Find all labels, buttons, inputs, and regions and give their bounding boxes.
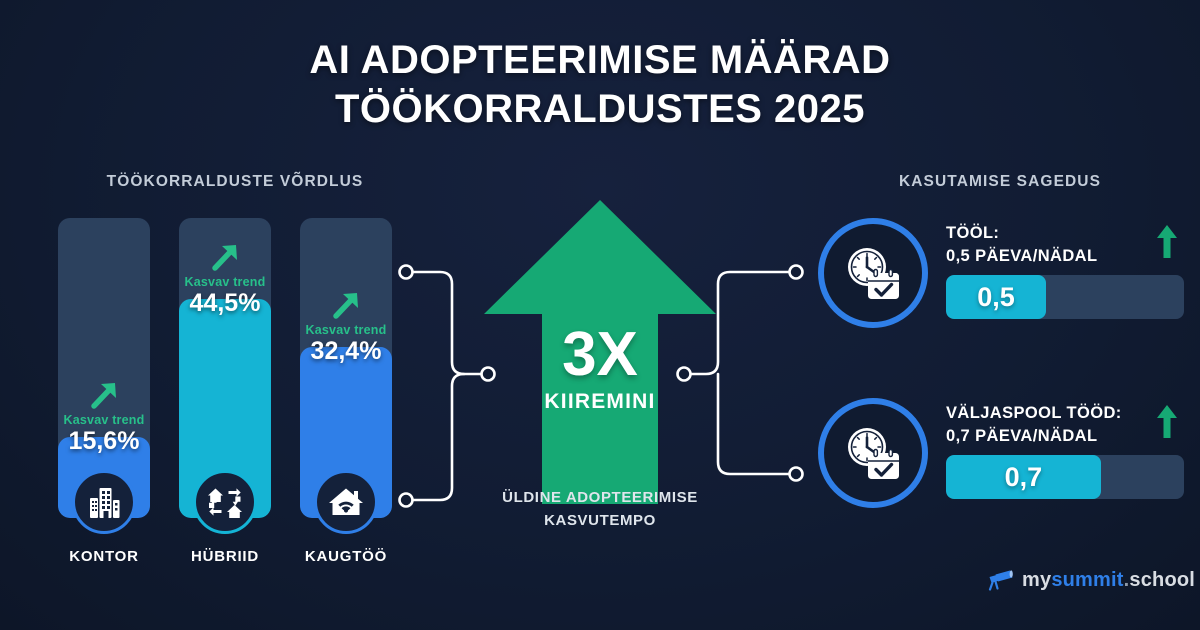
bar-trend-label: Kasvav trend (179, 275, 271, 289)
logo-part-summit: summit (1051, 569, 1123, 591)
logo[interactable]: mysummit.school (985, 568, 1195, 592)
bar-value-group: Kasvav trend 44,5% (179, 240, 271, 318)
up-arrow-icon (1156, 404, 1178, 440)
bar-percent: 44,5% (179, 289, 271, 318)
bar-chart: Kasvav trend 15,6% (58, 218, 408, 578)
home-wifi-icon (327, 483, 365, 521)
trend-arrow-icon (207, 240, 243, 274)
office-building-icon (86, 484, 122, 520)
bar-percent: 32,4% (300, 337, 392, 366)
frequency-value: 0,5 (977, 282, 1015, 313)
clock-calendar-check-icon-circle[interactable] (818, 218, 928, 328)
center-caption: ÜLDINE ADOPTEERIMISE KASVUTEMPO (455, 487, 745, 532)
frequency-card-outside-work[interactable]: VÄLJASPOOL TÖÖD: 0,7 PÄEVA/NÄDAL 0,7 (818, 398, 1178, 518)
bar-category-label: KAUGTÖÖ (291, 548, 401, 565)
page-title-line1: AI ADOPTEERIMISE MÄÄRAD (309, 38, 890, 82)
frequency-progress-track: 0,7 (946, 455, 1184, 499)
connector-node-work (790, 266, 803, 279)
logo-text: mysummit.school (1022, 569, 1195, 592)
center-growth-arrow: 3X KIIREMINI (480, 196, 720, 516)
frequency-card-at-work[interactable]: TÖÖL: 0,5 PÄEVA/NÄDAL 0,5 (818, 218, 1178, 338)
up-arrow-icon (1156, 224, 1178, 260)
frequency-value: 0,7 (1005, 462, 1043, 493)
hybrid-houses-swap-icon (205, 482, 245, 522)
clock-calendar-check-icon (842, 423, 904, 483)
bar-category-label: KONTOR (49, 548, 159, 565)
telescope-icon (985, 568, 1015, 592)
frequency-label: VÄLJASPOOL TÖÖD: 0,7 PÄEVA/NÄDAL (946, 402, 1146, 449)
frequency-progress-track: 0,5 (946, 275, 1184, 319)
clock-calendar-check-icon-circle[interactable] (818, 398, 928, 508)
bar-trend-label: Kasvav trend (300, 323, 392, 337)
multiplier-value: 3X (480, 324, 720, 386)
left-section-header: TÖÖKORRALDUSTE VÕRDLUS (60, 173, 410, 191)
frequency-label: TÖÖL: 0,5 PÄEVA/NÄDAL (946, 222, 1146, 269)
page-title-line2: TÖÖKORRALDUSTES 2025 (0, 85, 1200, 134)
hybrid-houses-swap-icon-circle[interactable] (193, 470, 257, 534)
frequency-label-line2: 0,7 PÄEVA/NÄDAL (946, 427, 1097, 445)
trend-arrow-icon (328, 288, 364, 322)
office-building-icon-circle[interactable] (72, 470, 136, 534)
frequency-progress-fill: 0,7 (946, 455, 1101, 499)
page-title: AI ADOPTEERIMISE MÄÄRAD TÖÖKORRALDUSTES … (0, 36, 1200, 134)
right-section-header: KASUTAMISE SAGEDUS (820, 173, 1180, 191)
multiplier-sub-label: KIIREMINI (480, 390, 720, 414)
trend-arrow-icon (86, 378, 122, 412)
home-wifi-icon-circle[interactable] (314, 470, 378, 534)
clock-calendar-check-icon (842, 243, 904, 303)
bar-trend-label: Kasvav trend (58, 413, 150, 427)
bar-category-label: HÜBRIID (170, 548, 280, 565)
frequency-label-line1: VÄLJASPOOL TÖÖD: (946, 404, 1122, 422)
connector-node-offwork (790, 468, 803, 481)
logo-part-my: my (1022, 569, 1051, 591)
bar-percent: 15,6% (58, 427, 150, 456)
center-caption-line2: KASVUTEMPO (544, 512, 656, 529)
frequency-label-line1: TÖÖL: (946, 224, 999, 242)
center-caption-line1: ÜLDINE ADOPTEERIMISE (502, 489, 698, 506)
logo-part-school: school (1129, 569, 1195, 591)
frequency-progress-fill: 0,5 (946, 275, 1046, 319)
bar-value-group: Kasvav trend 32,4% (300, 288, 392, 366)
frequency-label-line2: 0,5 PÄEVA/NÄDAL (946, 247, 1097, 265)
infographic-canvas: AI ADOPTEERIMISE MÄÄRAD TÖÖKORRALDUSTES … (0, 0, 1200, 630)
bar-value-group: Kasvav trend 15,6% (58, 378, 150, 456)
